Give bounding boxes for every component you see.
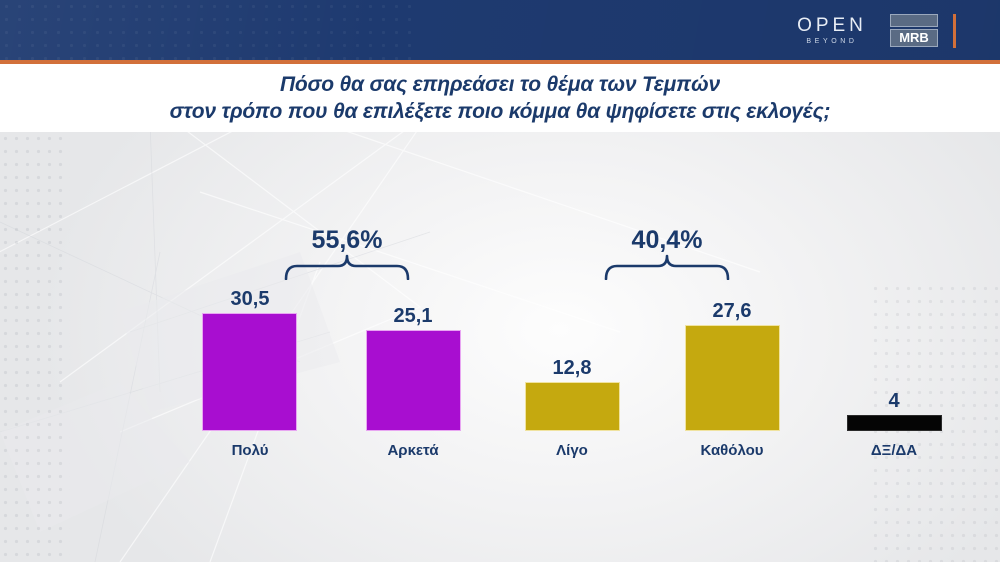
bar-ligo <box>525 382 620 431</box>
bar-value-poly: 30,5 <box>155 288 345 311</box>
bar-value-arketa: 25,1 <box>318 305 508 328</box>
mrb-logo-bar <box>890 14 938 27</box>
bar-value-dk-na: 4 <box>799 390 989 413</box>
mrb-logo-text: MRB <box>890 29 938 47</box>
bar-value-katholou: 27,6 <box>637 300 827 323</box>
bar-label-dk-na: ΔΞ/ΔΑ <box>799 442 989 459</box>
beyond-logo-subtext: BEYOND <box>784 37 876 47</box>
bar-label-poly: Πολύ <box>155 442 345 459</box>
group-brace-2 <box>604 254 730 280</box>
page-title: Πόσο θα σας επηρεάσει το θέμα των Τεμπών… <box>0 64 1000 132</box>
group-brace-1 <box>284 254 410 280</box>
page-title-line-1: Πόσο θα σας επηρεάσει το θέμα των Τεμπών <box>280 71 720 98</box>
bar-poly <box>202 313 297 431</box>
poll-result-slide: OPEN BEYOND MRB Πόσο θα σας επηρεάσει το… <box>0 0 1000 562</box>
bar-arketa <box>366 330 461 431</box>
header-bar: OPEN BEYOND MRB <box>0 0 1000 60</box>
background-dots-left <box>0 132 70 562</box>
background-streak-texture <box>0 132 1000 562</box>
logo-divider <box>953 14 956 48</box>
open-logo-word: OPEN <box>784 15 876 36</box>
group-total-1: 55,6% <box>232 226 462 255</box>
bar-value-ligo: 12,8 <box>477 357 667 380</box>
chart-area: 55,6% 40,4% 30,5 Πολύ 25,1 Αρκετά 12,8 Λ… <box>0 132 1000 562</box>
bar-dk-na <box>847 415 942 431</box>
mrb-logo: MRB <box>890 14 938 47</box>
group-total-2: 40,4% <box>552 226 782 255</box>
open-beyond-logo: OPEN BEYOND <box>784 15 876 47</box>
bar-katholou <box>685 325 780 431</box>
page-title-line-2: στον τρόπο που θα επιλέξετε ποιο κόμμα θ… <box>170 98 831 125</box>
